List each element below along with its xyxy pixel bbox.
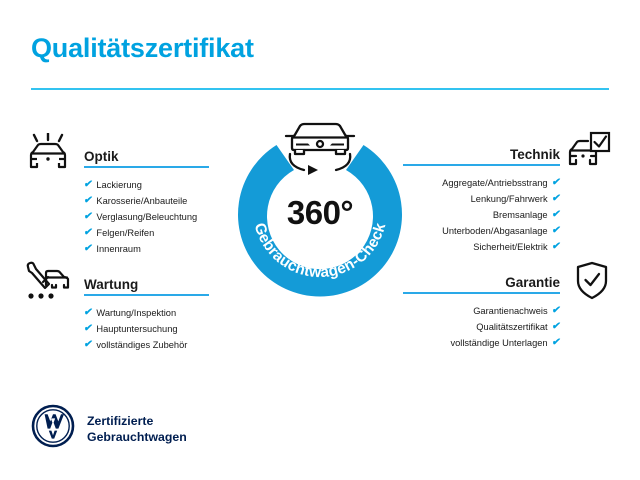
check-icon: ✔ (83, 324, 93, 334)
page-title: Qualitätszertifikat (31, 33, 254, 64)
list-item-label: Garantienachweis (473, 303, 547, 319)
section-header: Technik (403, 140, 560, 166)
list-item-label: Wartung/Inspektion (96, 305, 176, 321)
checklist: Aggregate/Antriebsstrang ✔ Lenkung/Fahrw… (403, 175, 560, 255)
list-item: ✔ Innenraum (84, 241, 209, 257)
list-item: Sicherheit/Elektrik ✔ (403, 239, 560, 255)
list-item-label: Innenraum (96, 241, 140, 257)
check-icon: ✔ (551, 322, 561, 332)
checklist: Garantienachweis ✔ Qualitätszertifikat ✔… (403, 303, 560, 351)
brand-text-line2: Gebrauchtwagen (87, 429, 187, 445)
check-icon: ✔ (83, 196, 93, 206)
list-item: Lenkung/Fahrwerk ✔ (403, 191, 560, 207)
list-item-label: vollständige Unterlagen (450, 335, 547, 351)
car-shine-icon (26, 133, 70, 178)
section-garantie: Garantie Garantienachweis ✔ Qualitätszer… (403, 268, 560, 351)
section-optik: Optik ✔ Lackierung ✔ Karosserie/Anbautei… (84, 142, 209, 257)
list-item-label: Felgen/Reifen (96, 225, 154, 241)
check-icon: ✔ (551, 306, 561, 316)
list-item: ✔ Karosserie/Anbauteile (84, 193, 209, 209)
brand-text: Zertifizierte Gebrauchtwagen (87, 413, 187, 445)
badge-center-text: 360° (222, 112, 418, 308)
list-item: ✔ vollständiges Zubehör (84, 337, 209, 353)
list-item-label: vollständiges Zubehör (96, 337, 187, 353)
list-item-label: Bremsanlage (493, 207, 548, 223)
section-divider (403, 164, 560, 166)
shield-check-icon (575, 261, 609, 306)
list-item-label: Karosserie/Anbauteile (96, 193, 187, 209)
list-item-label: Qualitätszertifikat (476, 319, 547, 335)
check-icon: ✔ (83, 340, 93, 350)
check-icon: ✔ (551, 194, 561, 204)
check-icon: ✔ (551, 242, 561, 252)
list-item-label: Hauptuntersuchung (96, 321, 177, 337)
list-item: ✔ Felgen/Reifen (84, 225, 209, 241)
check-icon: ✔ (551, 178, 561, 188)
check-icon: ✔ (551, 210, 561, 220)
list-item: Garantienachweis ✔ (403, 303, 560, 319)
list-item-label: Lackierung (96, 177, 141, 193)
section-header: Wartung (84, 270, 209, 296)
list-item: Bremsanlage ✔ (403, 207, 560, 223)
check-icon: ✔ (83, 212, 93, 222)
section-divider (403, 292, 560, 294)
footer-brand: Zertifizierte Gebrauchtwagen (31, 404, 187, 453)
section-title: Wartung (84, 277, 138, 292)
list-item: Unterboden/Abgasanlage ✔ (403, 223, 560, 239)
list-item-label: Sicherheit/Elektrik (473, 239, 547, 255)
section-header: Garantie (403, 268, 560, 294)
wrench-car-icon (24, 260, 72, 307)
check-icon: ✔ (83, 180, 93, 190)
list-item: ✔ Verglasung/Beleuchtung (84, 209, 209, 225)
car-checkbox-icon (566, 131, 612, 178)
brand-text-line1: Zertifizierte (87, 413, 187, 429)
section-wartung: Wartung ✔ Wartung/Inspektion ✔ Hauptunte… (84, 270, 209, 353)
section-technik: Technik Aggregate/Antriebsstrang ✔ Lenku… (403, 140, 560, 255)
list-item: Aggregate/Antriebsstrang ✔ (403, 175, 560, 191)
header-divider (31, 88, 609, 90)
section-title: Technik (510, 147, 560, 162)
list-item-label: Aggregate/Antriebsstrang (442, 175, 547, 191)
list-item-label: Unterboden/Abgasanlage (442, 223, 547, 239)
section-title: Garantie (505, 275, 560, 290)
list-item-label: Verglasung/Beleuchtung (96, 209, 197, 225)
list-item: Qualitätszertifikat ✔ (403, 319, 560, 335)
section-title: Optik (84, 149, 119, 164)
check-icon: ✔ (551, 338, 561, 348)
check-icon: ✔ (83, 228, 93, 238)
list-item: ✔ Wartung/Inspektion (84, 305, 209, 321)
list-item: ✔ Hauptuntersuchung (84, 321, 209, 337)
volkswagen-logo (31, 404, 75, 453)
check-icon: ✔ (83, 244, 93, 254)
check-icon: ✔ (83, 308, 93, 318)
checklist: ✔ Lackierung ✔ Karosserie/Anbauteile ✔ V… (84, 177, 209, 257)
list-item: ✔ Lackierung (84, 177, 209, 193)
checklist: ✔ Wartung/Inspektion ✔ Hauptuntersuchung… (84, 305, 209, 353)
list-item: vollständige Unterlagen ✔ (403, 335, 560, 351)
section-divider (84, 294, 209, 296)
check-icon: ✔ (551, 226, 561, 236)
list-item-label: Lenkung/Fahrwerk (471, 191, 548, 207)
section-header: Optik (84, 142, 209, 168)
badge-360-gebrauchtwagen-check: Gebrauchtwagen-Check 360° (222, 112, 418, 308)
section-divider (84, 166, 209, 168)
